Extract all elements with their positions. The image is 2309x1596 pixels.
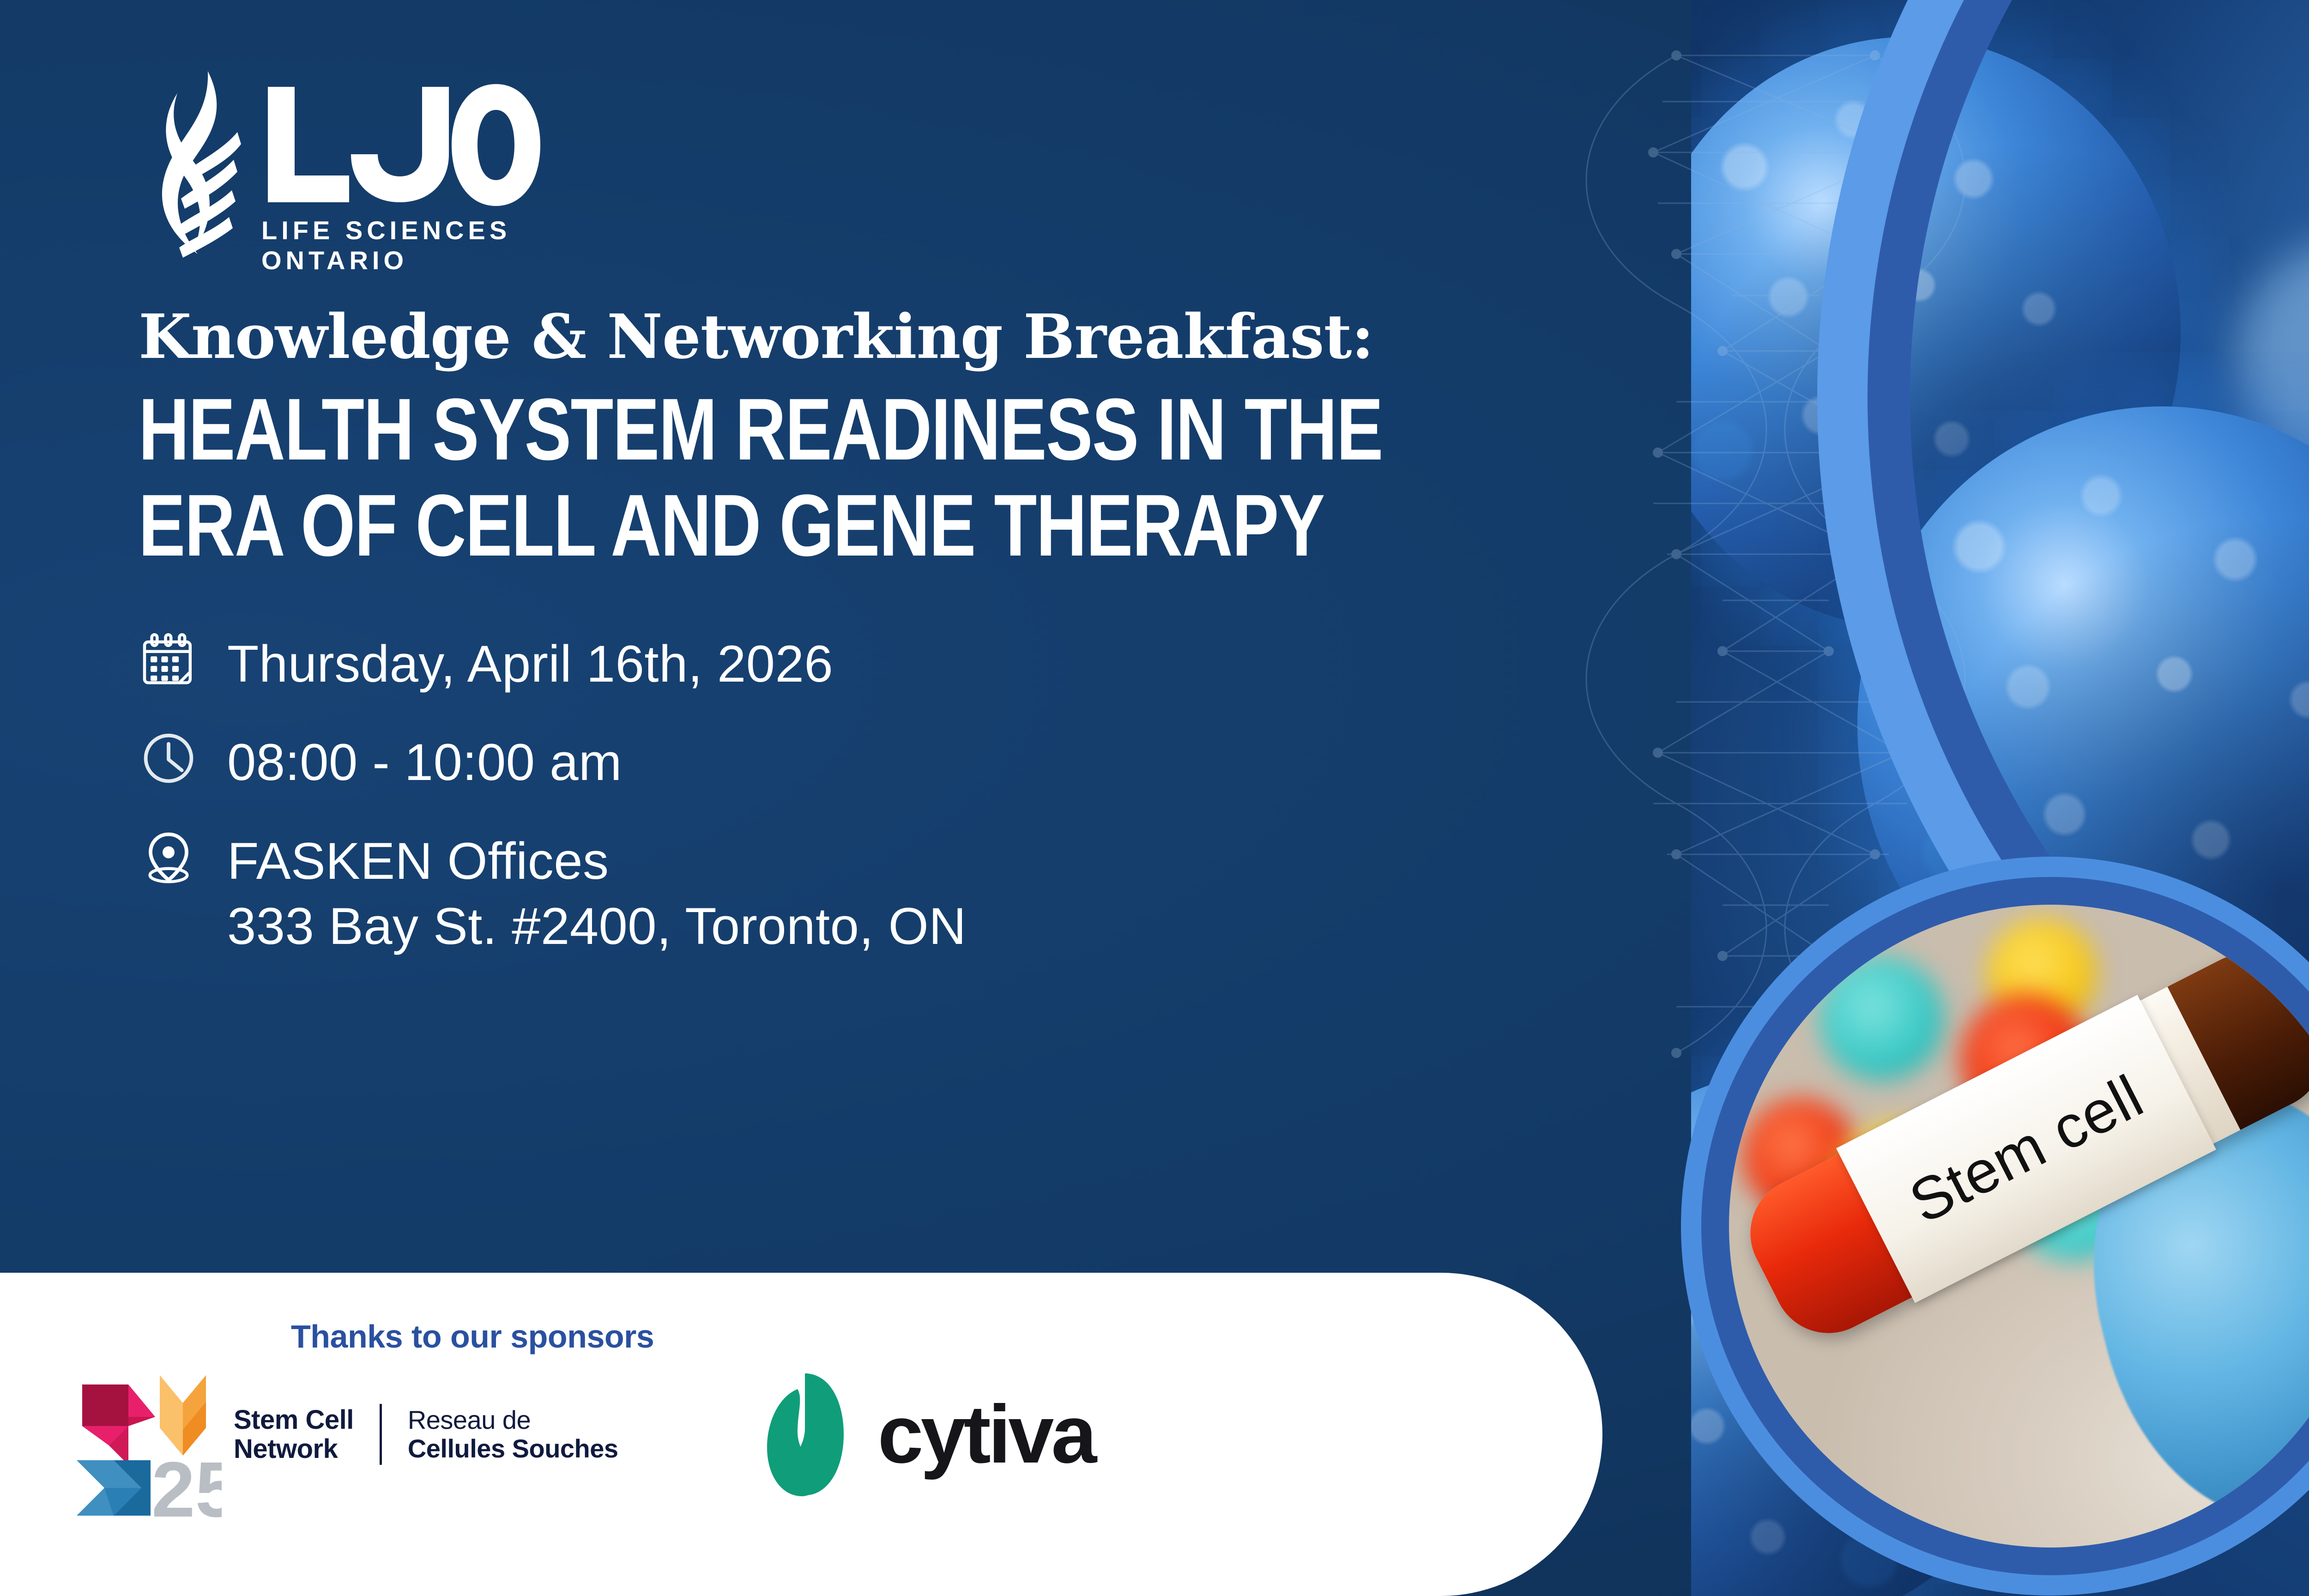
cytiva-logo[interactable]: cytiva [757,1370,1094,1499]
detail-date-text: Thursday, April 16th, 2026 [227,630,833,695]
cytiva-wordmark: cytiva [878,1393,1094,1475]
scn-fr-line2: Cellules Souches [408,1434,618,1463]
calendar-icon [139,630,199,690]
lso-logo: LIFE SCIENCES ONTARIO [139,69,554,272]
lso-tagline: LIFE SCIENCES ONTARIO [261,215,554,275]
scn-name-line2: Network [234,1434,354,1463]
headline-line-1: HEALTH SYSTEM READINESS IN THE [139,385,1284,475]
scn-name: Stem Cell Network [234,1405,354,1463]
scn-divider [380,1404,382,1465]
detail-location-address: 333 Bay St. #2400, Toronto, ON [227,892,967,958]
svg-text:25: 25 [151,1446,222,1522]
sponsor-panel: Thanks to our sponsors 25 [0,1273,1602,1596]
blurred-tube-cap [1819,956,1944,1081]
detail-row-date: Thursday, April 16th, 2026 [139,630,1570,695]
sponsors-thanks-label: Thanks to our sponsors [291,1318,654,1355]
headline-line-2: ERA OF CELL AND GENE THERAPY [139,481,1284,571]
clock-icon [139,728,199,788]
location-pin-icon [139,827,199,887]
detail-row-time: 08:00 - 10:00 am [139,728,1570,794]
event-headline: HEALTH SYSTEM READINESS IN THE ERA OF CE… [139,385,1284,571]
detail-time-text: 08:00 - 10:00 am [227,728,622,794]
event-banner: LIFE SCIENCES ONTARIO Knowledge & Networ… [0,0,2309,1596]
detail-location-block: FASKEN Offices 333 Bay St. #2400, Toront… [227,827,967,958]
scn-name-fr: Reseau de Cellules Souches [408,1406,618,1463]
stem-cell-photo-inset: Stem cell [1681,857,2309,1596]
detail-location-venue: FASKEN Offices [227,827,967,893]
detail-row-location: FASKEN Offices 333 Bay St. #2400, Toront… [139,827,1570,958]
stem-cell-network-logo[interactable]: 25 Stem Cell Network Reseau de Cellules … [69,1347,618,1522]
scn-name-line1: Stem Cell [234,1405,354,1434]
lso-wordmark-icon [260,82,541,207]
cytiva-droplet-icon [757,1370,854,1499]
scn-fr-line1: Reseau de [408,1406,618,1434]
stem-cell-network-logo-icon: 25 [69,1347,222,1522]
event-subtitle: Knowledge & Networking Breakfast: [139,305,1570,369]
event-details: Thursday, April 16th, 2026 08:00 - 10:00… [139,630,1570,958]
dna-flame-icon [139,69,263,272]
